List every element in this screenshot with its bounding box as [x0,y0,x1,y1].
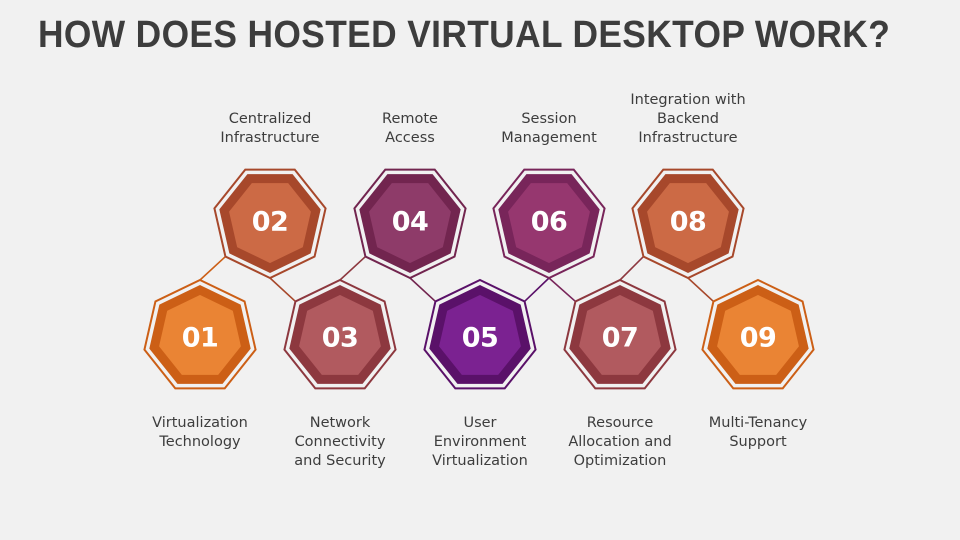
connector-line [620,257,643,280]
process-node-09[interactable]: 09 [702,280,813,388]
connector-line [410,278,435,301]
connector-line [549,278,575,301]
connector-line [200,257,225,280]
node-number: 05 [462,323,499,354]
node-number: 09 [740,323,777,354]
process-node-01[interactable]: 01 [144,280,255,388]
slide-canvas: HOW DOES HOSTED VIRTUAL DESKTOP WORK? 01… [0,0,960,540]
node-number: 07 [602,323,639,354]
node-number: 03 [322,323,359,354]
process-node-07[interactable]: 07 [564,280,675,388]
node-label-08: Integration with Backend Infrastructure [593,91,783,148]
connector-line [270,278,295,301]
connector-line [340,257,365,280]
node-number: 06 [531,207,568,238]
process-node-08[interactable]: 08 [632,170,743,278]
process-node-02[interactable]: 02 [214,170,325,278]
process-node-04[interactable]: 04 [354,170,465,278]
connector-line [525,278,549,301]
node-layer: 010203040506070809 [144,170,813,389]
process-node-06[interactable]: 06 [493,170,604,278]
connector-line [688,278,713,301]
node-number: 02 [252,207,289,238]
node-number: 01 [182,323,219,354]
node-label-09: Multi-Tenancy Support [663,414,853,452]
process-node-03[interactable]: 03 [284,280,395,388]
node-number: 04 [392,207,429,238]
node-number: 08 [670,207,707,238]
process-node-05[interactable]: 05 [424,280,535,388]
